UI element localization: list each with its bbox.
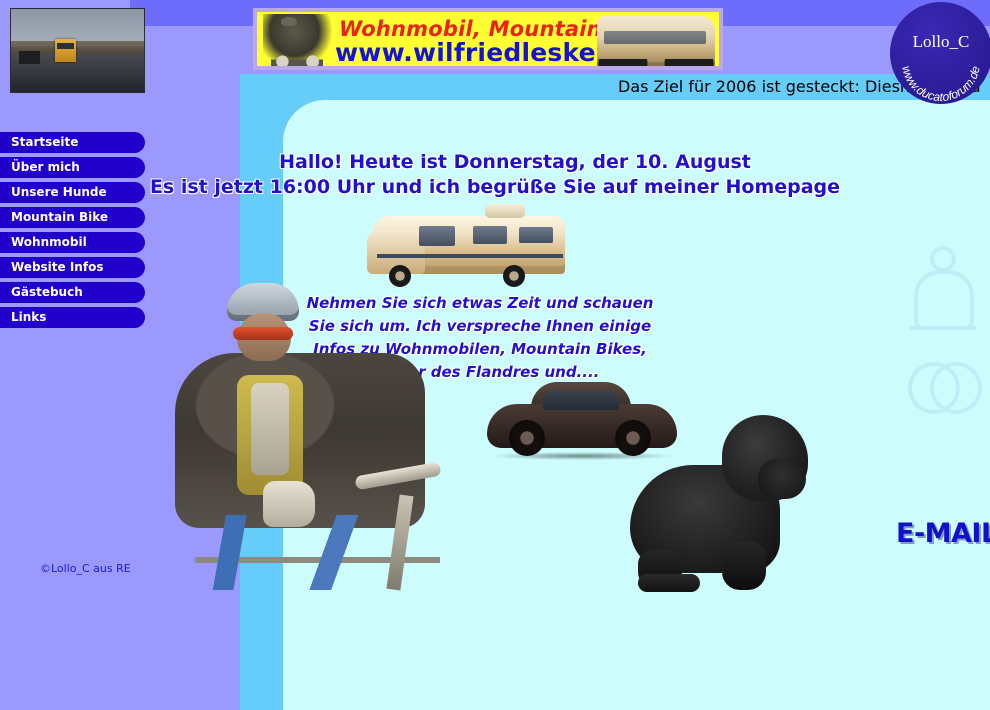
motorhome-roof-box — [485, 204, 525, 218]
mountain-biker-image — [165, 283, 450, 590]
page-root: Wohnmobil, Mountain Bike.. www.wilfriedl… — [0, 0, 990, 710]
sidebar-item-startseite[interactable]: Startseite — [0, 132, 145, 153]
dog-leg-front — [638, 550, 682, 590]
sidebar-item-label: Gästebuch — [11, 285, 83, 299]
motorhome-stripe — [377, 254, 563, 258]
sidebar-item-website-infos[interactable]: Website Infos — [0, 257, 145, 278]
sidebar-item-label: Unsere Hunde — [11, 185, 107, 199]
biker-sunglasses — [233, 327, 293, 340]
photo-camper-van — [55, 39, 76, 62]
biker-vest-panel — [251, 383, 289, 475]
badge-name: Lollo_C — [890, 32, 990, 52]
sidebar-item-label: Links — [11, 310, 46, 324]
bouvier-dog-image — [630, 415, 810, 590]
watermark-head — [930, 246, 956, 272]
dog-paw — [638, 574, 700, 592]
sidebar-nav: Startseite Über mich Unsere Hunde Mounta… — [0, 132, 148, 332]
biker-glove — [263, 481, 315, 527]
cyclist-watermark-icon — [900, 238, 990, 428]
sidebar-item-label: Website Infos — [11, 260, 103, 274]
sidebar-item-label: Über mich — [11, 160, 80, 174]
email-link[interactable]: E-MAIL — [896, 518, 990, 549]
sidebar-item-label: Startseite — [11, 135, 78, 149]
sidebar-column — [0, 0, 130, 710]
sidebar-item-links[interactable]: Links — [0, 307, 145, 328]
sidebar-item-mountain-bike[interactable]: Mountain Bike — [0, 207, 145, 228]
motorhome-window-front — [419, 226, 455, 246]
sidebar-item-gaestebuch[interactable]: Gästebuch — [0, 282, 145, 303]
motorhome-window-rear — [519, 227, 553, 243]
beetle-wheel-front — [509, 420, 545, 456]
motorhome-window-mid — [473, 226, 507, 244]
banner-biker-icon — [263, 14, 333, 70]
badge-url-text: www.ducatoforum.de — [899, 64, 983, 104]
dog-muzzle — [758, 459, 806, 499]
site-banner[interactable]: Wohnmobil, Mountain Bike.. www.wilfriedl… — [253, 8, 723, 70]
watermark-body — [914, 270, 974, 330]
sidebar-item-label: Mountain Bike — [11, 210, 108, 224]
watermark-handlebar — [910, 326, 976, 330]
dog-leg-rear — [722, 542, 766, 590]
banner-title-line2: www.wilfriedleske.de — [335, 38, 641, 67]
photo-vehicle-dark — [19, 51, 40, 64]
banner-motorhome-icon — [597, 16, 715, 68]
sidebar-item-wohnmobil[interactable]: Wohnmobil — [0, 232, 145, 253]
lollo-c-badge[interactable]: www.ducatoforum.de Lollo_C — [890, 2, 990, 104]
marquee: Das Ziel für 2006 ist gesteckt: Diesmal … — [0, 74, 990, 100]
motorhome-wheel-rear — [503, 265, 525, 287]
badge-url-arc: www.ducatoforum.de — [890, 2, 990, 104]
copyright-text: ©Lollo_C aus RE — [40, 562, 131, 575]
sidebar-item-label: Wohnmobil — [11, 235, 87, 249]
motorhome-image — [367, 202, 565, 287]
sidebar-item-ueber-mich[interactable]: Über mich — [0, 157, 145, 178]
watermark-wheel-front — [930, 362, 982, 414]
beetle-window — [543, 390, 619, 410]
sidebar-item-unsere-hunde[interactable]: Unsere Hunde — [0, 182, 145, 203]
